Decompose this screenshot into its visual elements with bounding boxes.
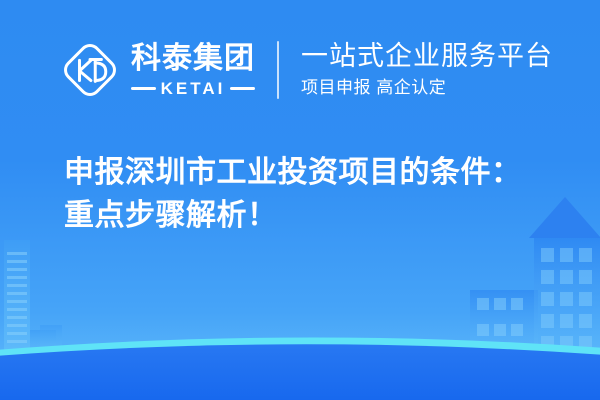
brand-name-en-row: KETAI [131, 80, 255, 97]
ketai-kt-monogram-logo [62, 42, 118, 98]
headline-block: 申报深圳市工业投资项目的条件： 重点步骤解析！ [64, 152, 564, 237]
brand-name-en: KETAI [161, 80, 226, 97]
brand-name-cn: 科泰集团 [131, 43, 255, 75]
tagline-primary: 一站式企业服务平台 [301, 41, 553, 71]
brand-rule-right [230, 87, 255, 90]
building-left-block [30, 325, 62, 357]
tagline-block: 一站式企业服务平台 项目申报 高企认定 [301, 41, 553, 99]
wave-foreground [0, 344, 600, 400]
brand-text: 科泰集团 KETAI [131, 43, 255, 97]
headline-line-2: 重点步骤解析！ [64, 195, 564, 238]
banner-header: 科泰集团 KETAI 一站式企业服务平台 项目申报 高企认定 [0, 0, 600, 140]
header-divider [277, 41, 279, 99]
building-left-tower [4, 240, 30, 350]
headline-line-1: 申报深圳市工业投资项目的条件： [64, 152, 564, 195]
tagline-secondary: 项目申报 高企认定 [301, 77, 553, 99]
wave-highlight [0, 337, 600, 364]
building-right-block [470, 290, 538, 352]
promo-banner: 科泰集团 KETAI 一站式企业服务平台 项目申报 高企认定 申报深圳市工业投资… [0, 0, 600, 400]
brand-lockup[interactable]: 科泰集团 KETAI [62, 42, 255, 98]
brand-rule-left [131, 87, 156, 90]
